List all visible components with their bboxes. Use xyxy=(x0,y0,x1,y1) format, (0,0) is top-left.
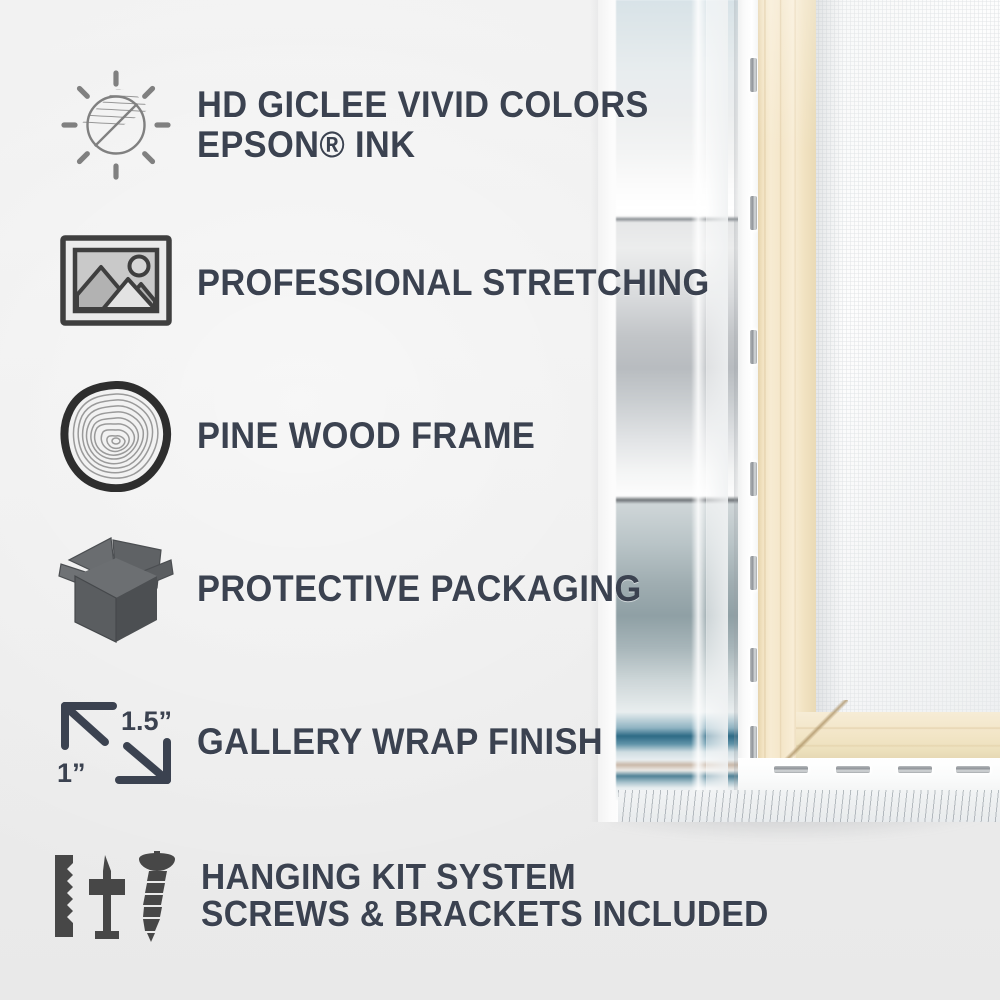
staple xyxy=(774,766,808,773)
feature-row-hanging: HANGING KIT SYSTEM SCREWS & BRACKETS INC… xyxy=(44,848,811,943)
white-canvas-wrap xyxy=(738,0,758,812)
canvas-underside-reflection xyxy=(618,790,1000,822)
staple xyxy=(898,766,932,773)
open-box-icon xyxy=(48,528,183,650)
infographic-page: HD GICLEE VIVID COLORS EPSON® INK PROFES… xyxy=(0,0,1000,1000)
staple xyxy=(750,556,757,590)
feature-row-pine: PINE WOOD FRAME xyxy=(48,380,561,492)
staple xyxy=(750,648,757,682)
feature-label-giclee: HD GICLEE VIVID COLORS EPSON® INK xyxy=(197,85,649,163)
staple xyxy=(750,58,757,92)
dimension-arrows-icon: 1.5” 1” xyxy=(48,694,183,789)
canvas-edge-highlight xyxy=(706,0,728,800)
hanging-hardware-icon xyxy=(44,848,183,943)
feature-label-line: HD GICLEE VIVID COLORS xyxy=(197,85,649,124)
staple xyxy=(750,462,757,496)
staple xyxy=(750,330,757,364)
feature-label-line: PINE WOOD FRAME xyxy=(197,416,535,455)
feature-label-pine: PINE WOOD FRAME xyxy=(197,416,535,455)
feature-label-hanging: HANGING KIT SYSTEM SCREWS & BRACKETS INC… xyxy=(201,859,769,932)
feature-label-wrap: GALLERY WRAP FINISH xyxy=(197,722,603,761)
feature-label-line: PROFESSIONAL STRETCHING xyxy=(197,263,710,302)
staple xyxy=(836,766,870,773)
framed-picture-icon xyxy=(48,228,183,338)
feature-row-packaging: PROTECTIVE PACKAGING xyxy=(48,528,675,650)
sun-hatched-icon xyxy=(48,62,183,187)
canvas-back-shade xyxy=(814,0,844,722)
feature-label-line: SCREWS & BRACKETS INCLUDED xyxy=(201,896,769,933)
feature-list: HD GICLEE VIVID COLORS EPSON® INK PROFES… xyxy=(0,0,620,1000)
dimension-label-depth: 1.5” xyxy=(121,706,172,736)
feature-row-wrap: 1.5” 1” GALLERY WRAP FINISH xyxy=(48,694,634,789)
feature-label-line: GALLERY WRAP FINISH xyxy=(197,722,603,761)
feature-label-line: PROTECTIVE PACKAGING xyxy=(197,569,642,608)
feature-row-giclee: HD GICLEE VIVID COLORS EPSON® INK xyxy=(48,62,683,187)
feature-label-packaging: PROTECTIVE PACKAGING xyxy=(197,569,642,608)
staple xyxy=(956,766,990,773)
feature-label-stretching: PROFESSIONAL STRETCHING xyxy=(197,263,710,302)
feature-row-stretching: PROFESSIONAL STRETCHING xyxy=(48,228,748,338)
staple xyxy=(750,196,757,230)
tree-rings-icon xyxy=(48,380,183,492)
canvas-corner-fold xyxy=(691,0,707,800)
dimension-label-width: 1” xyxy=(57,758,86,788)
feature-label-line: HANGING KIT SYSTEM xyxy=(201,859,769,896)
pine-stretcher-bar-vertical xyxy=(758,0,816,760)
feature-label-line: EPSON® INK xyxy=(197,125,649,164)
staple xyxy=(750,726,757,760)
